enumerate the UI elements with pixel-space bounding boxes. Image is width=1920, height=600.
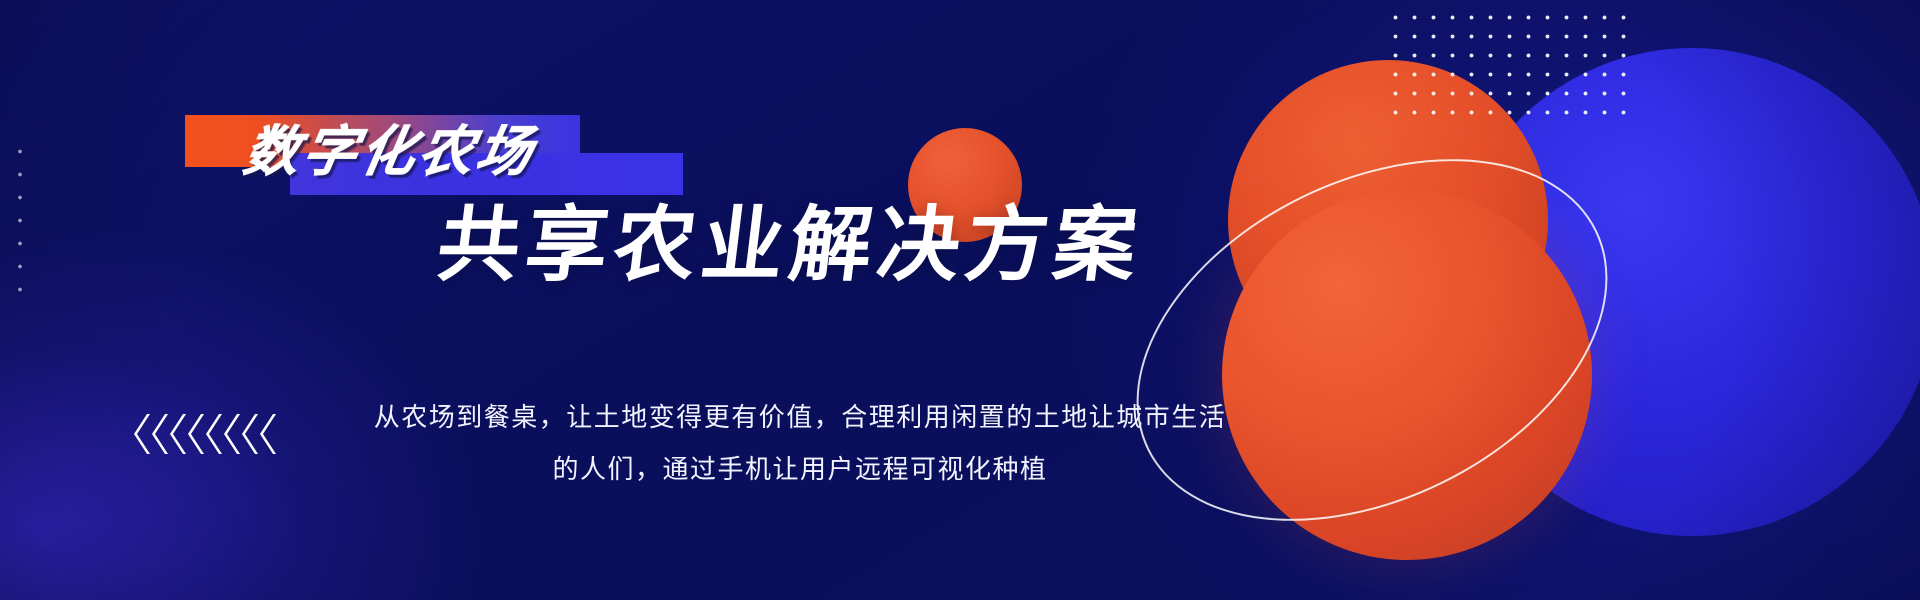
chevron-left-icon xyxy=(133,414,150,454)
chevron-left-icon xyxy=(241,414,258,454)
chevron-left-icon xyxy=(223,414,240,454)
badge-label: 数字化农场 xyxy=(240,125,540,179)
chevron-left-icon xyxy=(205,414,222,454)
chevron-left-icon xyxy=(169,414,186,454)
banner-content: 数字化农场 共享农业解决方案 从农场到餐桌，让土地变得更有价值，合理利用闲置的土… xyxy=(0,0,1920,600)
page-title: 共享农业解决方案 xyxy=(433,205,1203,287)
chevron-left-icon xyxy=(151,414,168,454)
chevron-left-icon xyxy=(259,414,276,454)
subtitle-line-1: 从农场到餐桌，让土地变得更有价值，合理利用闲置的土地让城市生活 xyxy=(300,392,1300,444)
hero-banner: 数字化农场 共享农业解决方案 从农场到餐桌，让土地变得更有价值，合理利用闲置的土… xyxy=(0,0,1920,600)
chevron-group xyxy=(133,414,276,454)
subtitle-line-2: 的人们，通过手机让用户远程可视化种植 xyxy=(300,444,1300,496)
badge: 数字化农场 xyxy=(185,115,585,195)
chevron-left-icon xyxy=(187,414,204,454)
subtitle: 从农场到餐桌，让土地变得更有价值，合理利用闲置的土地让城市生活 的人们，通过手机… xyxy=(300,392,1300,496)
